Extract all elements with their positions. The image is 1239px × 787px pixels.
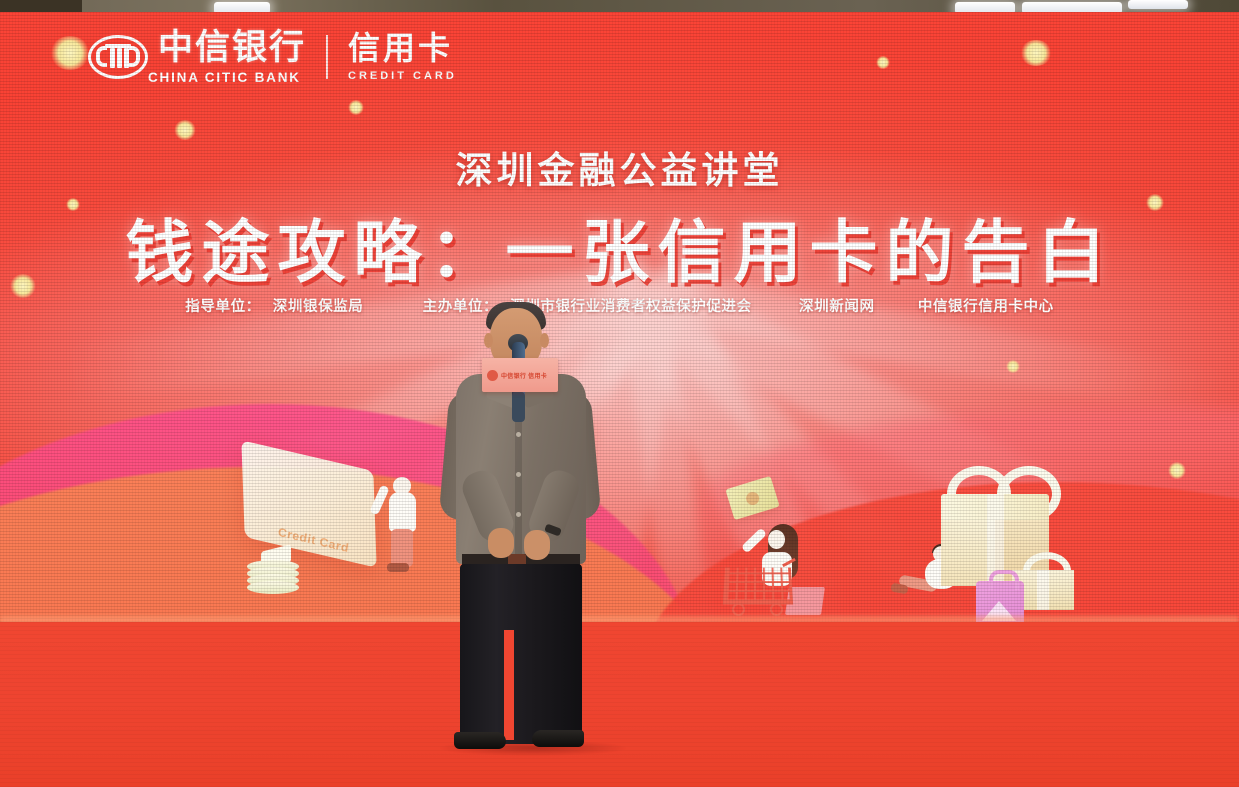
citic-oval-logo-icon <box>88 35 148 79</box>
bokeh-dot <box>50 36 90 70</box>
speaker-ear-right <box>540 333 549 348</box>
ceiling-light-4 <box>1128 0 1188 9</box>
credit-card-name-block: 信用卡 CREDIT CARD <box>348 32 457 82</box>
bokeh-dot <box>1020 40 1052 66</box>
partner-1: 深圳新闻网 <box>799 299 875 315</box>
event-main-title: 钱途攻略：一张信用卡的告白 <box>0 197 1239 296</box>
speaker-shoe-left <box>454 732 506 749</box>
citic-logo-lockup: 中信银行 CHINA CITIC BANK 信用卡 CREDIT CARD <box>88 30 457 85</box>
bank-name-zh: 中信银行 <box>158 30 306 65</box>
guidance-label: 指导单位： <box>185 299 261 315</box>
product-name-en: CREDIT CARD <box>348 71 457 82</box>
mic-flag-logo-icon <box>487 370 498 381</box>
speaker-hand-right <box>524 530 550 560</box>
shopping-cart-illustration <box>724 561 794 613</box>
speaker-leg-gap <box>504 630 514 740</box>
mic-flag-text: 中信银行 信用卡 <box>501 371 547 380</box>
product-name-zh: 信用卡 <box>348 32 457 64</box>
microphone-handle <box>512 392 525 422</box>
bokeh-dot <box>1168 462 1186 479</box>
citic-bank-name-block: 中信银行 CHINA CITIC BANK <box>148 30 306 85</box>
speaker-figure: 中信银行 信用卡 <box>432 300 632 765</box>
microphone-flag: 中信银行 信用卡 <box>482 358 558 392</box>
coin-stack-illustration <box>247 560 299 594</box>
event-subtitle: 深圳金融公益讲堂 <box>0 140 1239 194</box>
event-photo-stage: 中信银行 CHINA CITIC BANK 信用卡 CREDIT CARD 深圳… <box>0 0 1239 787</box>
partner-2: 中信银行信用卡中心 <box>918 299 1054 315</box>
logo-divider <box>326 35 328 79</box>
standing-person-illustration <box>384 477 424 572</box>
speaker-trousers <box>460 564 582 744</box>
speaker-shoe-right <box>532 730 584 747</box>
speaker-ear-left <box>484 333 493 348</box>
bokeh-dot <box>174 120 196 140</box>
bokeh-dot <box>348 100 364 115</box>
bank-name-en: CHINA CITIC BANK <box>148 71 306 85</box>
speaker-hand-left <box>488 528 514 558</box>
guidance-value: 深圳银保监局 <box>273 299 364 315</box>
bokeh-dot <box>876 56 890 69</box>
bokeh-dot <box>1006 360 1020 373</box>
